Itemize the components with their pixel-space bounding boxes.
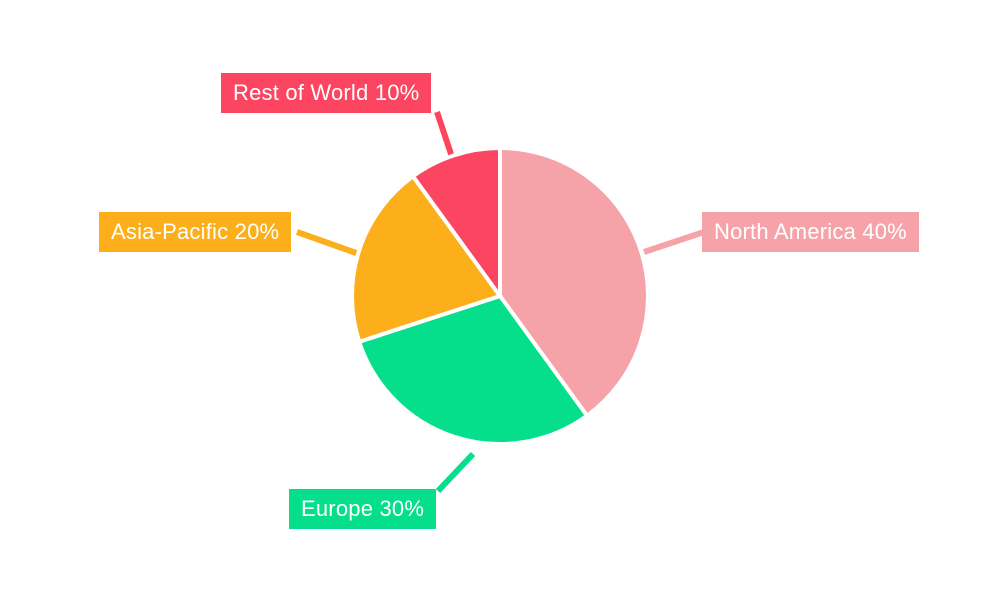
pie-chart-canvas xyxy=(0,0,1000,600)
pie-label-rest-of-world: Rest of World 10% xyxy=(221,73,431,113)
pie-chart: North America 40% Europe 30% Asia-Pacifi… xyxy=(0,0,1000,600)
leader-line-north-america xyxy=(644,232,704,252)
pie-label-north-america: North America 40% xyxy=(702,212,919,252)
pie-label-europe: Europe 30% xyxy=(289,489,436,529)
pie-slices-group xyxy=(352,148,648,444)
leader-line-asia-pacific xyxy=(297,232,359,254)
leader-line-europe xyxy=(438,454,473,491)
pie-label-asia-pacific: Asia-Pacific 20% xyxy=(99,212,291,252)
